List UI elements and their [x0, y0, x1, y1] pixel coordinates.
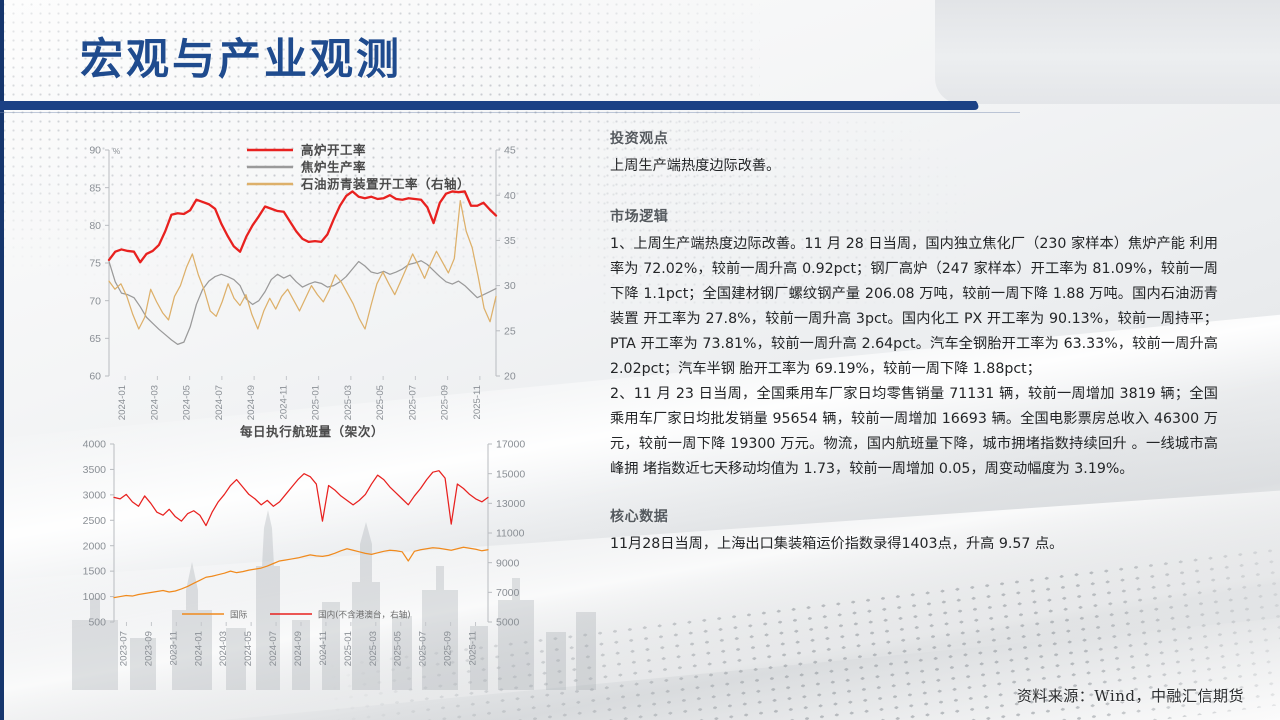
svg-text:80: 80	[89, 220, 101, 232]
market-logic-paragraph-1: 1、上周生产端热度边际改善。11 月 28 日当周，国内独立焦化厂（230 家样…	[610, 232, 1218, 382]
chart1-legend: 高炉开工率焦炉生产率石油沥青装置开工率（右轴）	[247, 143, 470, 192]
svg-text:2024-07: 2024-07	[214, 385, 225, 420]
svg-text:15000: 15000	[496, 468, 525, 480]
header-accent-band	[0, 101, 940, 110]
svg-text:2025-05: 2025-05	[375, 385, 386, 420]
svg-text:2025-01: 2025-01	[343, 631, 354, 666]
svg-text:25: 25	[504, 325, 516, 337]
svg-text:70: 70	[89, 295, 101, 307]
svg-text:7000: 7000	[496, 587, 520, 599]
svg-text:2025-07: 2025-07	[407, 385, 418, 420]
svg-text:2025-09: 2025-09	[440, 385, 451, 420]
chart2-legend: 国际国内(不含港澳台，右轴)	[182, 608, 411, 620]
svg-text:2024-05: 2024-05	[182, 385, 193, 420]
svg-text:2023-07: 2023-07	[118, 631, 129, 666]
slide-header: 宏观与产业观测	[0, 0, 1280, 118]
chart1-x-tick-labels: 2024-012024-032024-052024-072024-092024-…	[117, 385, 483, 420]
svg-text:焦炉生产率: 焦炉生产率	[300, 160, 366, 175]
svg-text:2025-07: 2025-07	[418, 631, 429, 666]
svg-text:国际: 国际	[230, 609, 248, 620]
svg-text:国内(不含港澳台，右轴): 国内(不含港澳台，右轴)	[318, 608, 411, 620]
svg-text:90: 90	[89, 145, 101, 157]
chart2-title: 每日执行航班量（架次）	[240, 424, 384, 439]
svg-text:4000: 4000	[83, 439, 107, 451]
svg-text:85: 85	[89, 182, 101, 194]
chart-daily-executed-flights: 5001000150020002500300035004000500070009…	[62, 424, 562, 686]
svg-text:60: 60	[89, 371, 101, 383]
svg-text:75: 75	[89, 258, 101, 270]
chart2-x-tick-labels: 2023-072023-092023-112024-012024-032024-…	[118, 631, 478, 666]
svg-text:2025-03: 2025-03	[343, 385, 354, 420]
svg-text:2024-05: 2024-05	[243, 631, 254, 666]
slide-root: 宏观与产业观测 60657075808590202530354045% 高炉开工…	[0, 0, 1280, 720]
svg-text:2023-11: 2023-11	[168, 631, 179, 666]
svg-text:13000: 13000	[496, 498, 525, 510]
page-title: 宏观与产业观测	[80, 36, 402, 84]
investment-view-text: 上周生产端热度边际改善。	[610, 154, 1218, 179]
chart1-series	[109, 191, 496, 344]
svg-text:35: 35	[504, 235, 516, 247]
svg-text:65: 65	[89, 333, 101, 345]
chart2-axes: 5001000150020002500300035004000500070009…	[83, 439, 526, 629]
svg-text:40: 40	[504, 190, 516, 202]
svg-text:9000: 9000	[496, 557, 520, 569]
source-footnote: 资料来源：Wind，中融汇信期货	[1017, 685, 1244, 706]
svg-text:2023-09: 2023-09	[143, 631, 154, 666]
svg-text:2024-01: 2024-01	[117, 385, 128, 420]
market-logic-heading: 市场逻辑	[610, 206, 1218, 226]
svg-text:30: 30	[504, 280, 516, 292]
svg-text:3500: 3500	[83, 464, 107, 476]
svg-text:2024-07: 2024-07	[268, 631, 279, 666]
svg-text:11000: 11000	[496, 528, 525, 540]
core-data-text: 11月28日当周，上海出口集装箱运价指数录得1403点，升高 9.57 点。	[610, 532, 1218, 557]
svg-text:2024-11: 2024-11	[278, 385, 289, 420]
core-data-heading: 核心数据	[610, 506, 1218, 526]
svg-text:3000: 3000	[83, 489, 107, 501]
svg-text:石油沥青装置开工率（右轴）: 石油沥青装置开工率（右轴）	[300, 177, 470, 192]
svg-text:1500: 1500	[83, 566, 107, 578]
svg-text:2024-03: 2024-03	[218, 631, 229, 666]
svg-text:2025-03: 2025-03	[368, 631, 379, 666]
svg-text:%: %	[113, 147, 120, 156]
investment-view-heading: 投资观点	[610, 128, 1218, 148]
header-corner-block	[935, 0, 1280, 104]
left-edge-accent-strip	[0, 0, 4, 720]
chart2-series	[114, 471, 488, 598]
header-hairline	[0, 112, 1020, 113]
chart-blast-furnace-operating-rate: 60657075808590202530354045% 高炉开工率焦炉生产率石油…	[62, 132, 562, 432]
svg-text:45: 45	[504, 145, 516, 157]
svg-text:2500: 2500	[83, 515, 107, 527]
svg-text:2000: 2000	[83, 540, 107, 552]
svg-text:2024-09: 2024-09	[246, 385, 257, 420]
svg-text:5000: 5000	[496, 617, 520, 629]
svg-text:2024-01: 2024-01	[193, 631, 204, 666]
svg-text:2025-11: 2025-11	[472, 385, 483, 420]
svg-text:2025-09: 2025-09	[443, 631, 454, 666]
header-accent-band-tail	[930, 101, 983, 110]
svg-text:高炉开工率: 高炉开工率	[301, 143, 366, 158]
svg-text:1000: 1000	[83, 591, 107, 603]
svg-text:2024-09: 2024-09	[293, 631, 304, 666]
svg-text:17000: 17000	[496, 439, 525, 451]
svg-text:2025-11: 2025-11	[468, 631, 479, 666]
market-logic-paragraph-2: 2、11 月 23 日当周，全国乘用车厂家日均零售销量 71131 辆，较前一周…	[610, 382, 1218, 482]
svg-text:2025-01: 2025-01	[311, 385, 322, 420]
svg-text:20: 20	[504, 371, 516, 383]
svg-text:2024-11: 2024-11	[318, 631, 329, 666]
svg-text:2024-03: 2024-03	[149, 385, 160, 420]
svg-text:500: 500	[88, 617, 106, 629]
svg-text:2025-05: 2025-05	[393, 631, 404, 666]
commentary-panel: 投资观点 上周生产端热度边际改善。 市场逻辑 1、上周生产端热度边际改善。11 …	[610, 128, 1218, 557]
